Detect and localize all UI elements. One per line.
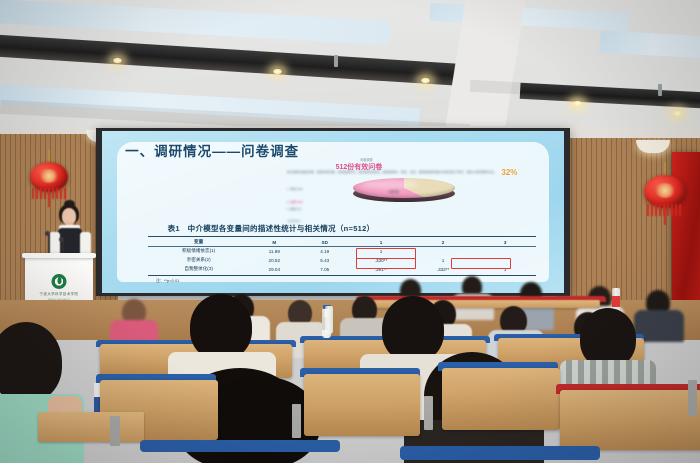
pie-chart	[353, 178, 455, 207]
th-3: 3	[474, 240, 536, 245]
university-logo-icon	[52, 274, 67, 289]
highlight-box	[451, 258, 511, 269]
seat-back	[560, 390, 700, 450]
desk-hinge	[688, 380, 697, 416]
lantern-cord	[49, 150, 50, 163]
lantern-flower	[39, 169, 59, 183]
seat-cushion	[400, 446, 600, 460]
lantern-tassel	[48, 189, 50, 206]
cell-m: 20.52	[249, 258, 299, 263]
slide-title: 一、调研情况——问卷调查	[125, 140, 299, 160]
audience-head	[580, 308, 636, 368]
cell-variable: 自我整体化(3)	[148, 266, 249, 272]
projection-screen-frame: 一、调研情况——问卷调查 问卷调查 512份有效问卷 本次调研共发放问卷，回收有…	[96, 128, 570, 296]
audience-head	[382, 296, 444, 362]
th-m: M	[249, 240, 299, 245]
ceiling-recess	[0, 34, 490, 87]
cell-sd: 4.19	[300, 249, 350, 254]
downlight-icon	[112, 57, 123, 64]
cell-variable: 亲密关系(2)	[148, 257, 249, 263]
cell-variable: 积极情绪依恋(1)	[148, 248, 249, 254]
microphone-head	[59, 237, 64, 242]
podium-top	[22, 253, 96, 258]
presentation-slide[interactable]: 一、调研情况——问卷调查 问卷调查 512份有效问卷 本次调研共发放问卷，回收有…	[102, 131, 564, 293]
legend-item: 2. 女性 32%	[287, 200, 303, 204]
table-header-row: 变量 M SD 1 2 3	[148, 238, 536, 247]
ceiling	[0, 0, 700, 132]
th-2: 2	[412, 240, 474, 245]
legend-item: 3. 其他 0%	[287, 207, 302, 211]
seat-cushion	[140, 440, 340, 452]
seat-back	[304, 374, 420, 436]
ceiling-light-slot	[600, 31, 700, 60]
table-caption: 表1 中介模型各变量间的描述性统计与相关情况（n=512）	[168, 223, 375, 234]
microphone-stem	[48, 234, 50, 254]
slide-chart-block: 问卷调查 512份有效问卷 本次调研共发放问卷，回收有效问卷，有效回收率为，被试…	[287, 159, 509, 214]
lecture-hall-photo: 一、调研情况——问卷调查 问卷调查 512份有效问卷 本次调研共发放问卷，回收有…	[0, 0, 700, 463]
cell-sd: 5.43	[300, 258, 350, 263]
lantern-right	[640, 162, 690, 226]
legend-item: 1. 男性 68%	[287, 187, 303, 191]
th-1: 1	[350, 240, 412, 245]
seat-back	[442, 368, 560, 430]
seat-desk	[38, 412, 144, 442]
sprinkler-icon	[334, 55, 338, 67]
lantern-cord	[665, 162, 666, 176]
sprinkler-icon	[658, 84, 662, 96]
downlight-icon	[272, 68, 283, 75]
desk-hinge	[292, 404, 301, 438]
slide-table-block: 描述性统计 表1 中介模型各变量间的描述性统计与相关情况（n=512） 变量 M…	[148, 222, 536, 284]
water-bottle	[325, 306, 333, 334]
table-row: 积极情绪依恋(1) 11.89 4.19 1	[148, 247, 536, 256]
audience-head	[190, 294, 252, 360]
downlight-icon	[572, 100, 583, 107]
lantern-tassel	[664, 206, 666, 225]
desk-hinge	[110, 416, 120, 446]
th-sd: SD	[300, 240, 350, 245]
th-variable: 变量	[148, 239, 249, 245]
highlight-box	[356, 258, 416, 269]
microphone-head	[45, 231, 50, 236]
pie-callout: 饱和型	[389, 189, 399, 194]
cell-m: 11.89	[249, 249, 299, 254]
desk-hinge	[424, 396, 433, 430]
downlight-icon	[420, 77, 431, 84]
chart-paragraph: 本次调研共发放问卷，回收有效问卷，有效回收率为，被试者基本信息；被调查者中，男性…	[287, 170, 509, 175]
lantern-left	[26, 150, 72, 208]
cell-sd: 7.05	[300, 267, 350, 272]
ceiling-light-slot	[430, 3, 631, 31]
bottle-label	[612, 296, 620, 306]
table-note: 注：**p<0.01	[156, 278, 179, 284]
downlight-icon	[672, 110, 683, 117]
pie-percent-label: 32%	[501, 168, 517, 177]
pie-gloss	[361, 180, 417, 189]
cell-m: 29.04	[249, 267, 299, 272]
podium-org-name: 宁波大学科学技术学院	[40, 291, 79, 296]
